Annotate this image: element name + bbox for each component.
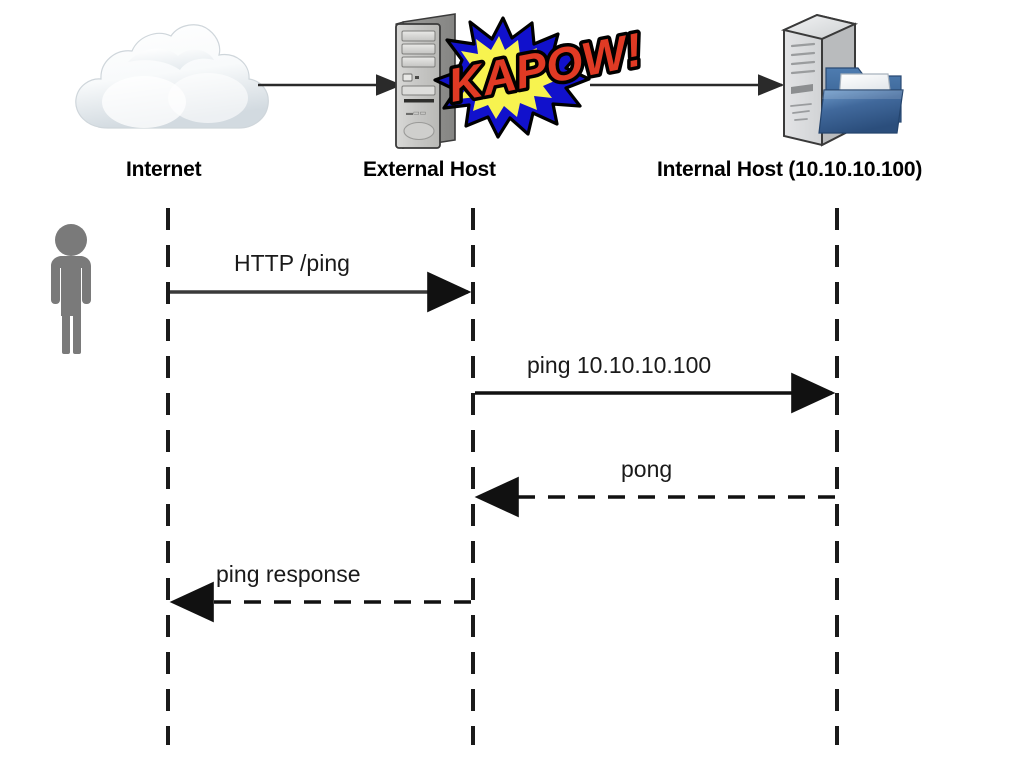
user-actor-icon [51,224,91,354]
message-label-1: HTTP /ping [234,250,350,277]
message-label-3: pong [621,456,672,483]
sequence-diagram-canvas: ▬▭▭ KAPOW! KAPOW! [0,0,1024,768]
sequence-layer [0,0,1024,768]
message-label-4: ping response [216,561,361,588]
message-label-2: ping 10.10.10.100 [527,352,711,379]
